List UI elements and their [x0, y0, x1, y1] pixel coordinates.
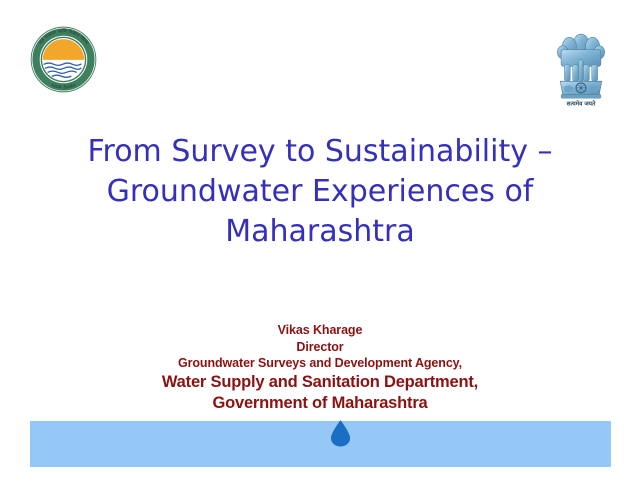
page-title: From Survey to Sustainability – Groundwa…	[58, 132, 582, 252]
water-droplet-icon	[329, 420, 352, 447]
author-name: Vikas Kharage	[60, 322, 580, 339]
author-agency: Groundwater Surveys and Development Agen…	[60, 355, 580, 372]
gsda-logo: जल संधारण आणि विकास यंत्रणा महाराष्ट्र श…	[30, 26, 97, 93]
national-emblem-of-india-icon: सत्यमेव जयते	[552, 26, 610, 110]
author-block: Vikas Kharage Director Groundwater Surve…	[60, 322, 580, 414]
author-designation: Director	[60, 339, 580, 356]
title-line-3: Maharashtra	[58, 212, 582, 252]
author-department: Water Supply and Sanitation Department,	[60, 372, 580, 393]
title-line-1: From Survey to Sustainability –	[58, 132, 582, 172]
footer-band	[30, 421, 611, 467]
author-government: Government of Maharashtra	[60, 393, 580, 414]
title-slide: जल संधारण आणि विकास यंत्रणा महाराष्ट्र श…	[0, 0, 640, 495]
svg-text:सत्यमेव जयते: सत्यमेव जयते	[566, 99, 596, 107]
title-line-2: Groundwater Experiences of	[58, 172, 582, 212]
